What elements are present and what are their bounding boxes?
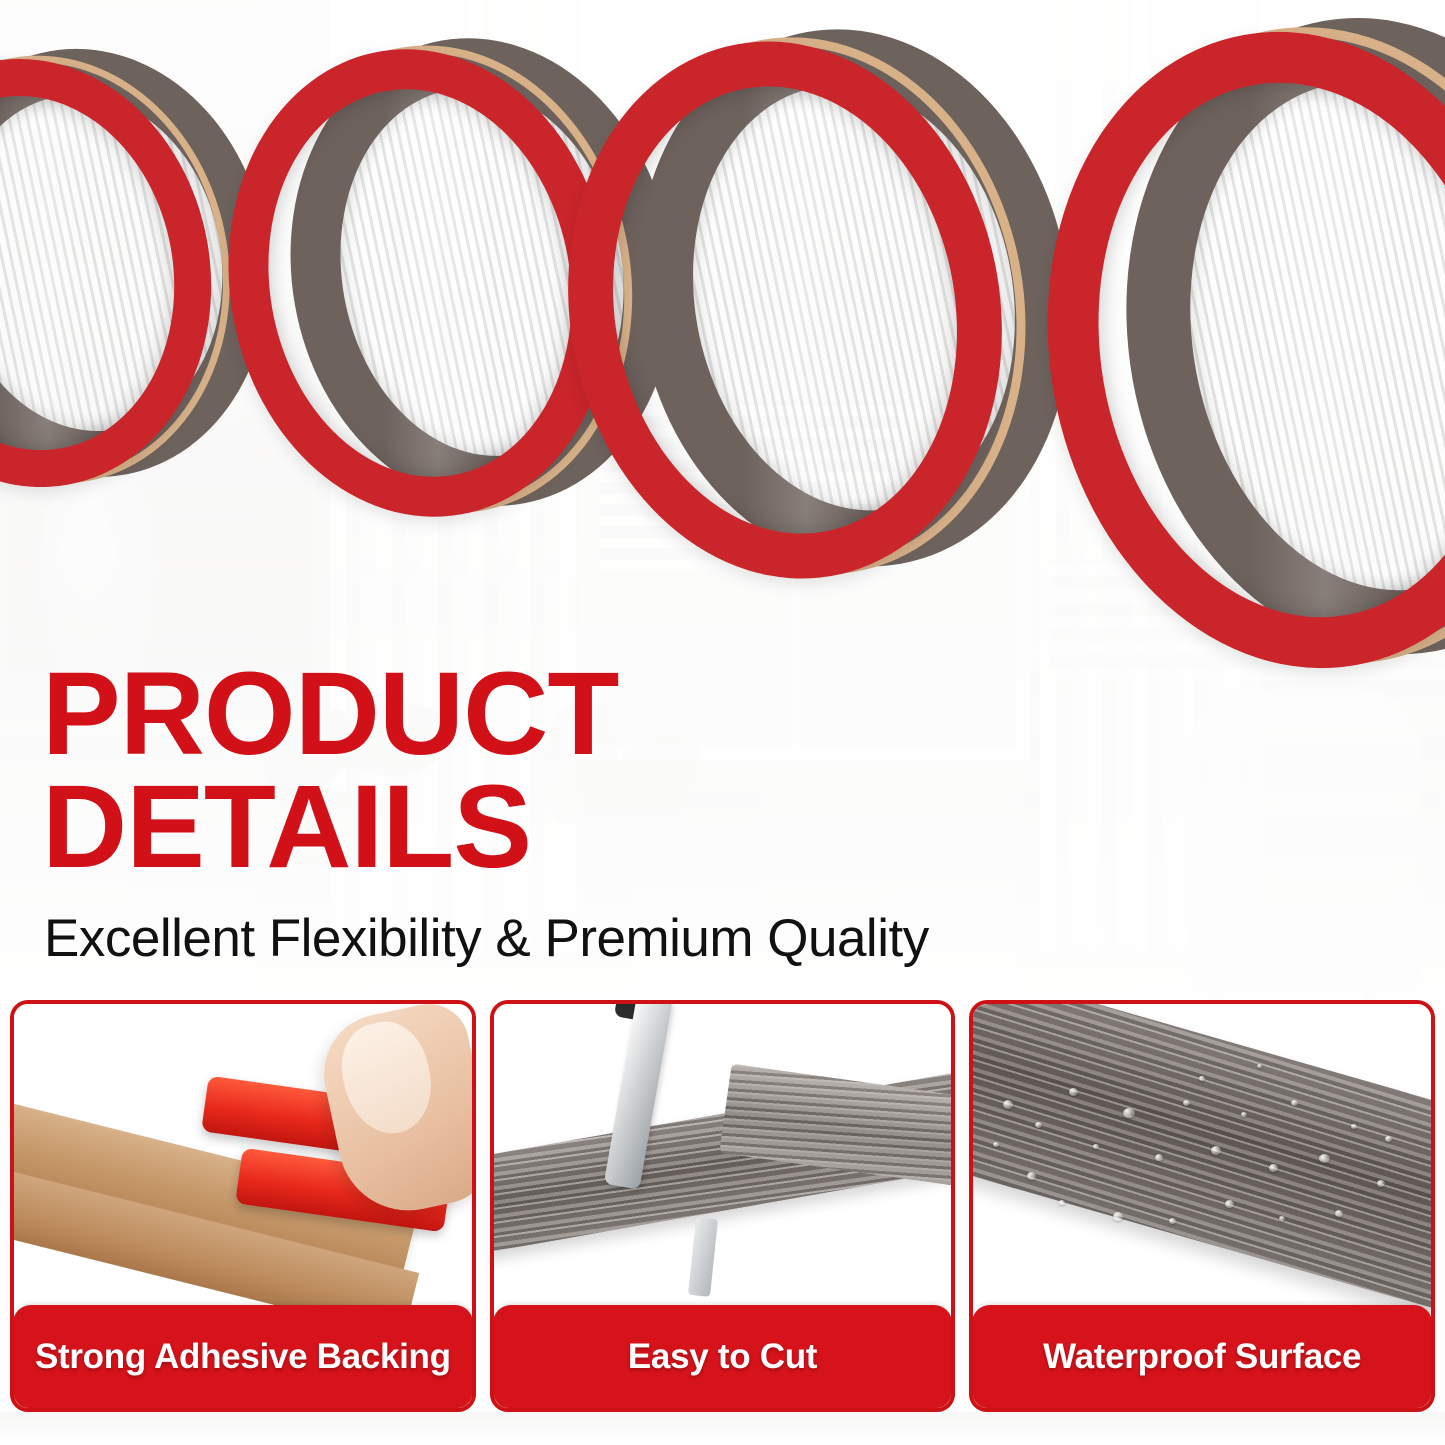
edge-banding-coil-4 [998,0,1445,709]
adhesive-photo [14,1004,472,1316]
waterproof-photo [973,1004,1431,1316]
water-drop-icon [973,1004,1431,1316]
adhesive-peel-icon [14,1004,472,1316]
feature-panel-cut[interactable]: Easy to Cut [490,1000,956,1412]
scissors-icon [494,1004,952,1316]
hero-section: PRODUCT DETAILS Excellent Flexibility & … [0,0,1445,1010]
edge-banding-coil-3 [526,7,1043,613]
water-droplet [1059,1200,1065,1205]
product-details-infographic: PRODUCT DETAILS Excellent Flexibility & … [0,0,1445,1445]
water-droplet [1113,1212,1123,1221]
feature-caption-cut: Easy to Cut [493,1305,953,1409]
feature-caption-text: Waterproof Surface [1043,1337,1361,1377]
bottom-edge-fade [0,1412,1445,1445]
feature-panel-row: Strong Adhesive Backing Easy to Cut [0,1000,1445,1445]
coil-red-liner-ring [998,0,1445,709]
cut-photo [494,1004,952,1316]
feature-caption-text: Easy to Cut [628,1337,817,1377]
feature-caption-waterproof: Waterproof Surface [972,1305,1432,1409]
page-title: PRODUCT DETAILS [42,658,618,885]
feature-caption-text: Strong Adhesive Backing [35,1337,451,1377]
page-subtitle: Excellent Flexibility & Premium Quality [44,908,929,969]
feature-panel-adhesive[interactable]: Strong Adhesive Backing [10,1000,476,1412]
feature-caption-adhesive: Strong Adhesive Backing [13,1305,473,1409]
feature-panel-waterproof[interactable]: Waterproof Surface [969,1000,1435,1412]
